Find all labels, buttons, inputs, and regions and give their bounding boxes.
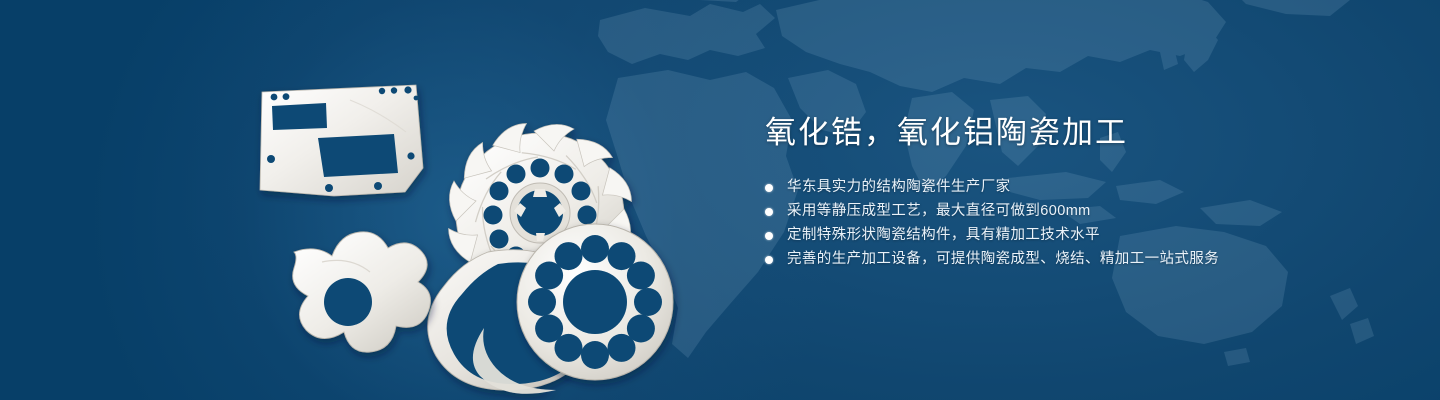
ceramic-perforated-disc: [517, 224, 673, 380]
banner-copy: 氧化锆，氧化铝陶瓷加工 华东具实力的结构陶瓷件生产厂家 采用等静压成型工艺，最大…: [765, 112, 1385, 272]
hero-banner: 氧化锆，氧化铝陶瓷加工 华东具实力的结构陶瓷件生产厂家 采用等静压成型工艺，最大…: [0, 0, 1440, 400]
feature-text: 完善的生产加工设备，可提供陶瓷成型、烧结、精加工一站式服务: [787, 248, 1219, 271]
bullet-dot-icon: [765, 232, 773, 240]
feature-text: 定制特殊形状陶瓷结构件，具有精加工技术水平: [787, 224, 1100, 247]
feature-list: 华东具实力的结构陶瓷件生产厂家 采用等静压成型工艺，最大直径可做到600mm 定…: [765, 176, 1385, 271]
feature-text: 华东具实力的结构陶瓷件生产厂家: [787, 176, 1011, 199]
bullet-dot-icon: [765, 208, 773, 216]
bullet-dot-icon: [765, 256, 773, 264]
ceramic-products-image: [230, 40, 700, 390]
ceramic-cross-part: [293, 232, 431, 352]
page-title: 氧化锆，氧化铝陶瓷加工: [765, 112, 1385, 154]
list-item: 华东具实力的结构陶瓷件生产厂家: [765, 176, 1385, 199]
list-item: 采用等静压成型工艺，最大直径可做到600mm: [765, 200, 1385, 223]
feature-text: 采用等静压成型工艺，最大直径可做到600mm: [787, 200, 1091, 223]
list-item: 完善的生产加工设备，可提供陶瓷成型、烧结、精加工一站式服务: [765, 248, 1385, 271]
ceramic-machined-plate: [260, 85, 423, 196]
list-item: 定制特殊形状陶瓷结构件，具有精加工技术水平: [765, 224, 1385, 247]
bullet-dot-icon: [765, 184, 773, 192]
